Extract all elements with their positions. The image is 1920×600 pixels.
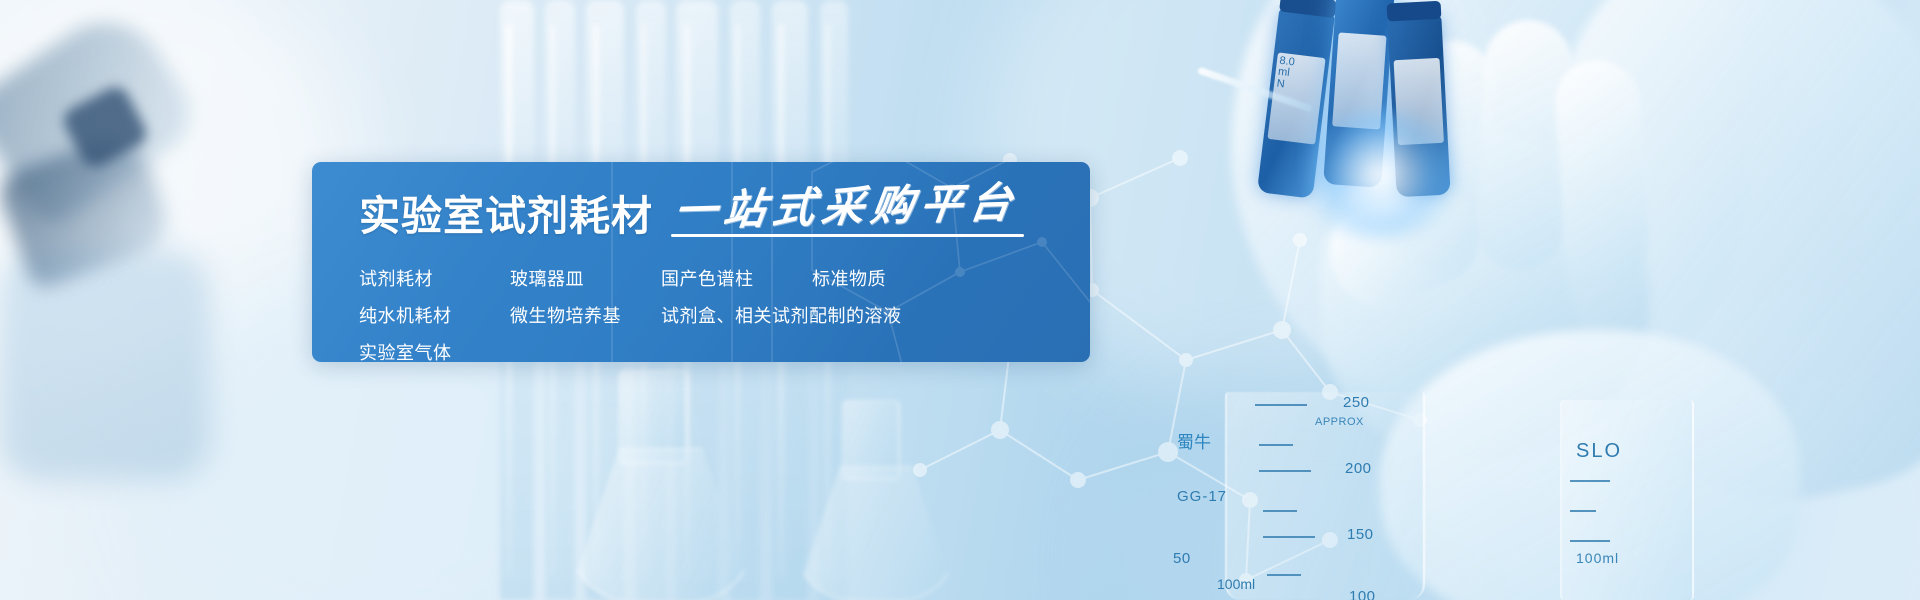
graduation-mark — [1570, 480, 1610, 482]
graduation-mark — [1263, 536, 1315, 538]
category-item-water-purifier-consumables[interactable]: 纯水机耗材 — [359, 302, 510, 328]
beaker-mark-250: 250 — [1343, 394, 1370, 411]
promo-panel: 实验室试剂耗材 一站式采购平台 试剂耗材 玻璃器皿 国产色谱柱 标准物质 纯水机… — [312, 162, 1090, 362]
category-row: 纯水机耗材 微生物培养基 试剂盒、相关试剂配制的溶液 — [359, 296, 902, 333]
category-item-domestic-chromatography-column[interactable]: 国产色谱柱 — [661, 265, 812, 291]
category-item-reagent-consumables[interactable]: 试剂耗材 — [359, 265, 510, 291]
category-item-microbial-culture-media[interactable]: 微生物培养基 — [510, 302, 661, 328]
beaker-mark-200: 200 — [1345, 460, 1372, 477]
graduation-mark — [1259, 444, 1293, 446]
category-item-reference-materials[interactable]: 标准物质 — [812, 265, 886, 291]
graduated-cylinder: SLO 100ml — [1560, 400, 1694, 600]
category-item-glassware[interactable]: 玻璃器皿 — [510, 265, 661, 291]
category-item-laboratory-gases[interactable]: 实验室气体 — [359, 339, 510, 363]
graduation-mark — [1255, 404, 1307, 406]
category-item-reagent-kits-solutions[interactable]: 试剂盒、相关试剂配制的溶液 — [661, 302, 902, 328]
graduation-mark — [1267, 574, 1301, 576]
graduation-mark — [1570, 540, 1610, 542]
cylinder-volume-label: 100ml — [1576, 550, 1619, 566]
cylinder-brand-label: SLO — [1576, 440, 1622, 463]
graduation-mark — [1263, 510, 1297, 512]
graduation-mark — [1570, 510, 1596, 512]
category-list: 试剂耗材 玻璃器皿 国产色谱柱 标准物质 纯水机耗材 微生物培养基 试剂盒、相关… — [359, 259, 902, 362]
beaker-brand-logo: 蜀牛 — [1177, 428, 1211, 453]
beaker-approx-label: APPROX — [1315, 416, 1364, 428]
graduation-mark — [1259, 470, 1311, 472]
beaker-mark-100: 100 — [1349, 588, 1376, 600]
lab-supplies-banner: 8.0mlN — [0, 0, 1920, 600]
graduated-beaker: 250 APPROX 200 150 100 蜀牛 GG-17 50 100ml — [1225, 392, 1425, 600]
category-row: 试剂耗材 玻璃器皿 国产色谱柱 标准物质 — [359, 259, 902, 296]
headline-underline — [671, 234, 1024, 237]
headline-brush-wrap: 一站式采购平台 — [675, 186, 1018, 237]
beaker-mark-50: 50 — [1173, 550, 1191, 567]
beaker-mark-150: 150 — [1347, 526, 1374, 543]
category-row: 实验室气体 — [359, 333, 902, 362]
headline-bold-text: 实验室试剂耗材 — [359, 196, 653, 237]
beaker-glass-code: GG-17 — [1177, 488, 1227, 505]
headline-brush-text: 一站式采购平台 — [672, 182, 1022, 233]
panel-headline: 实验室试剂耗材 一站式采购平台 — [359, 186, 1018, 237]
beaker-volume-label: 100ml — [1217, 576, 1255, 592]
